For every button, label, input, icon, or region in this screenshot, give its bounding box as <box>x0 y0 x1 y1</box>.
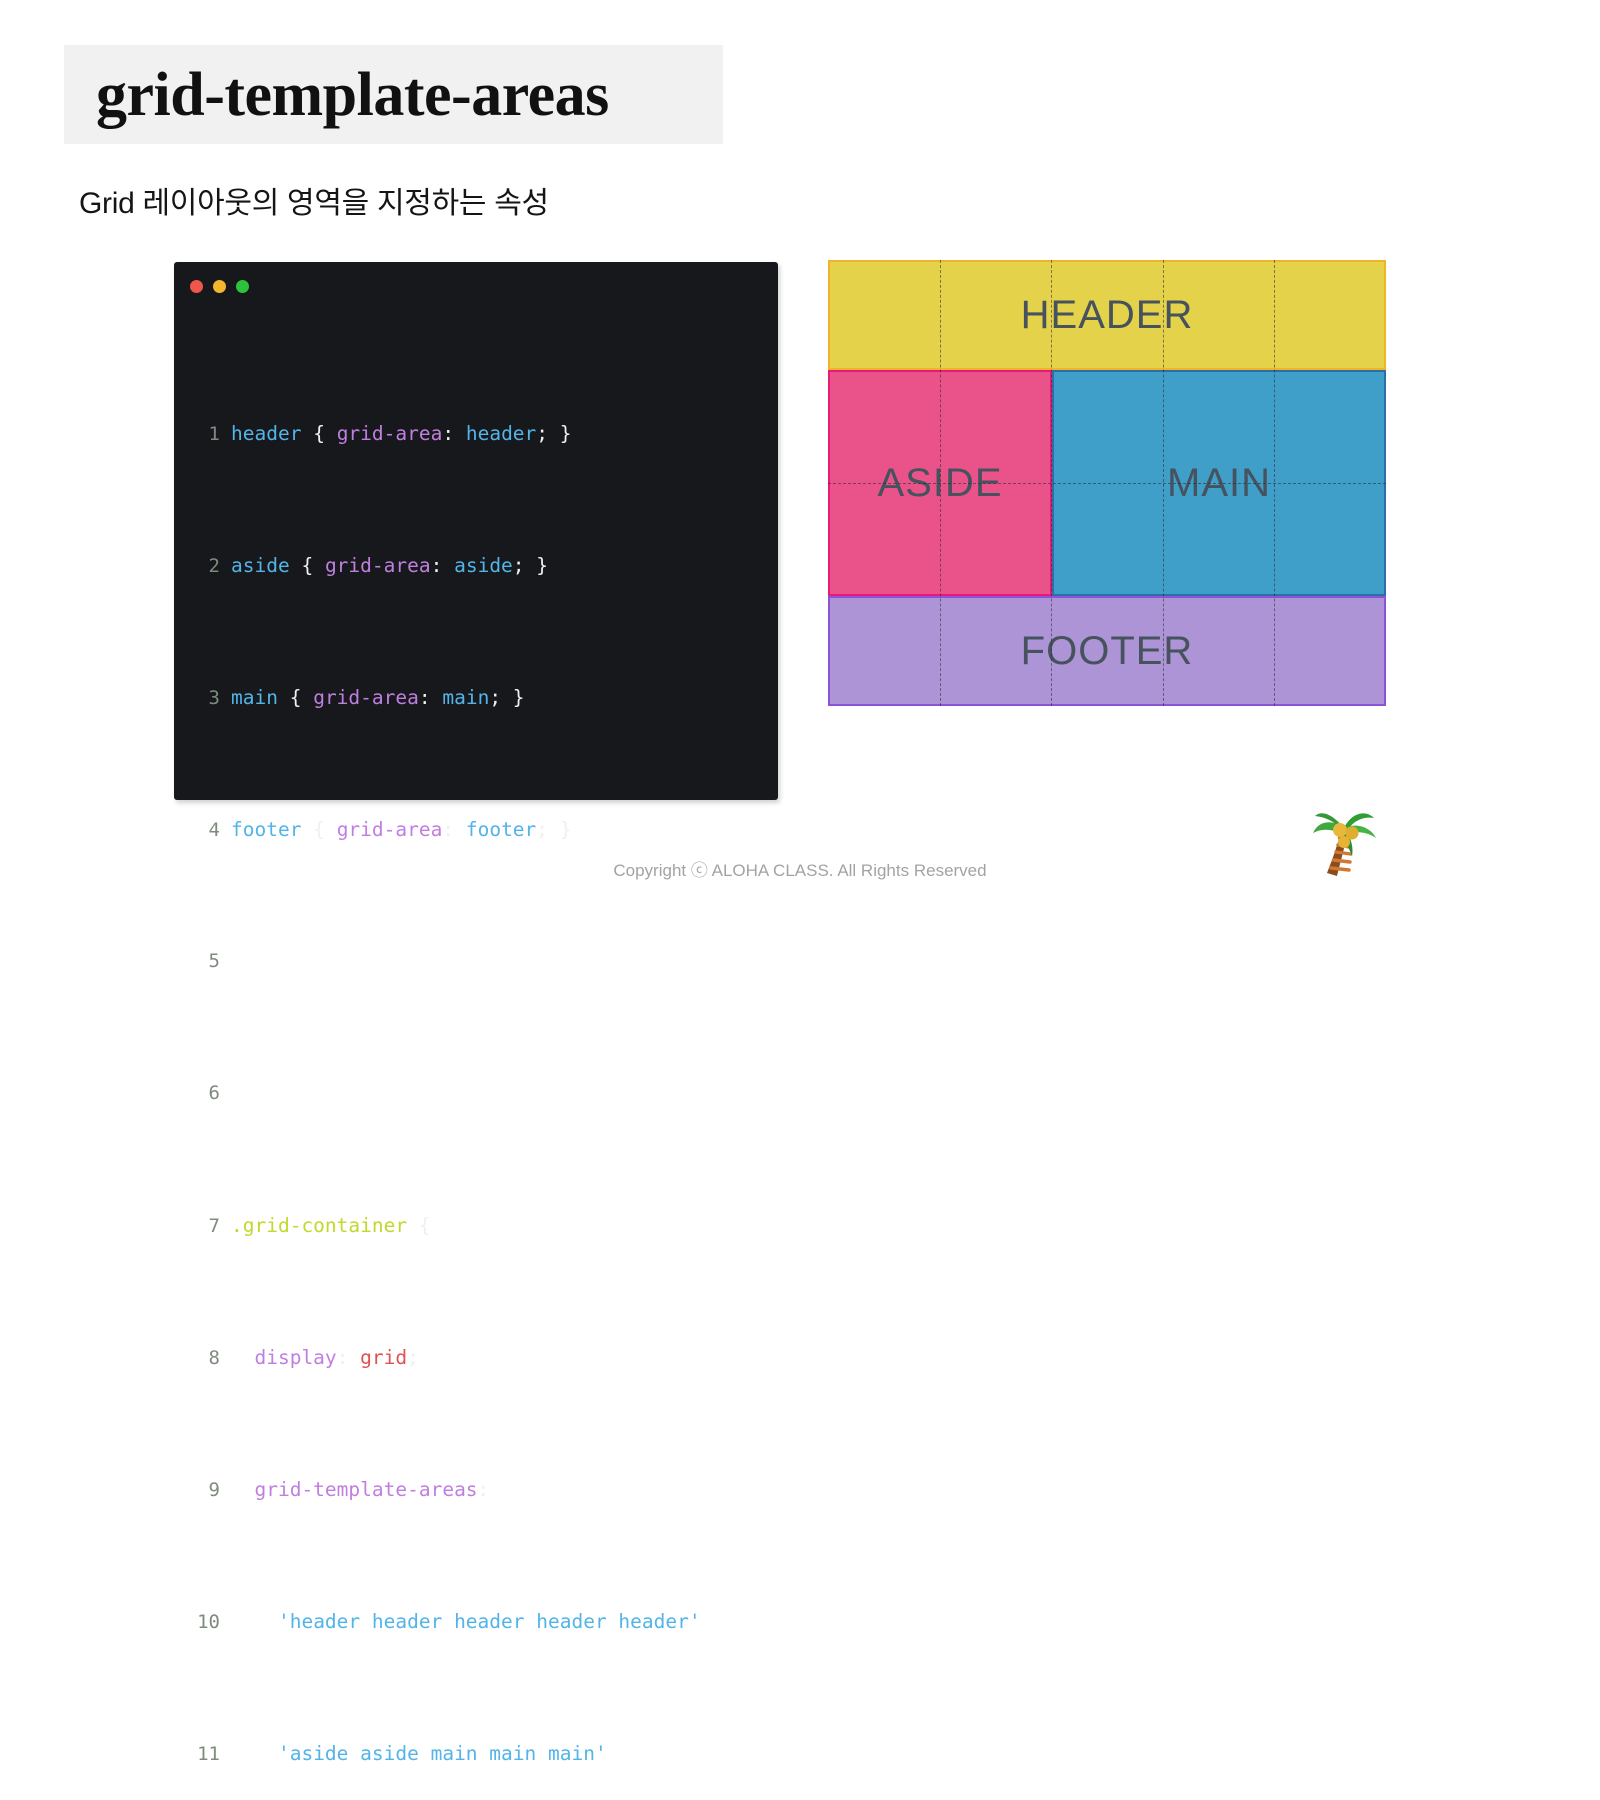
code-punct: { <box>290 554 325 577</box>
code-punct: : <box>442 818 465 841</box>
grid-layout-diagram: HEADER ASIDE MAIN FOOTER <box>828 260 1386 706</box>
css-property: grid-area <box>337 818 443 841</box>
code-punct: : <box>442 422 465 445</box>
code-line: 11 'aside aside main main main' <box>174 1737 778 1770</box>
line-number: 9 <box>174 1474 231 1507</box>
page-title: grid-template-areas <box>96 48 716 142</box>
code-content[interactable]: 1 header { grid-area: header; } 2 aside … <box>174 318 778 1800</box>
code-brace: { <box>419 1214 431 1237</box>
css-value: header <box>466 422 536 445</box>
code-line-text: aside { grid-area: aside; } <box>231 549 548 582</box>
css-selector: footer <box>231 818 301 841</box>
css-property: grid-area <box>337 422 443 445</box>
css-property: display <box>254 1346 336 1369</box>
css-area-string: 'aside aside main main main' <box>278 1742 607 1765</box>
css-selector: header <box>231 422 301 445</box>
code-editor-window: 1 header { grid-area: header; } 2 aside … <box>174 262 778 800</box>
code-indent <box>231 1742 278 1765</box>
grid-area-header: HEADER <box>828 260 1386 370</box>
line-number: 7 <box>174 1210 231 1243</box>
code-line: 3 main { grid-area: main; } <box>174 681 778 714</box>
code-line-text: footer { grid-area: footer; } <box>231 813 572 846</box>
css-value: footer <box>466 818 536 841</box>
css-selector: aside <box>231 554 290 577</box>
code-line-text: grid-template-areas: <box>231 1473 489 1506</box>
code-punct: ; } <box>489 686 524 709</box>
code-line-text: main { grid-area: main; } <box>231 681 525 714</box>
code-punct: { <box>278 686 313 709</box>
line-number: 11 <box>174 1738 231 1771</box>
code-line-text: display: grid; <box>231 1341 419 1374</box>
css-class-selector: .grid-container <box>231 1214 407 1237</box>
code-punct: { <box>301 818 336 841</box>
code-line-text: 'header header header header header' <box>231 1605 701 1638</box>
css-property: grid-template-areas <box>254 1478 477 1501</box>
code-line: 6 <box>174 1077 778 1110</box>
css-keyword: grid <box>360 1346 407 1369</box>
line-number: 8 <box>174 1342 231 1375</box>
code-line-text: 'aside aside main main main' <box>231 1737 607 1770</box>
grid-area-footer-label: FOOTER <box>1021 629 1194 674</box>
close-window-icon[interactable] <box>190 280 203 293</box>
grid-area-main: MAIN <box>1052 370 1386 596</box>
css-area-string: 'header header header header header' <box>278 1610 701 1633</box>
code-punct: ; } <box>536 818 571 841</box>
code-punct: ; <box>407 1346 419 1369</box>
code-punct: : <box>337 1346 360 1369</box>
code-punct: ; } <box>536 422 571 445</box>
code-punct: ; } <box>513 554 548 577</box>
code-line: 5 <box>174 945 778 978</box>
code-indent <box>231 1346 254 1369</box>
line-number: 2 <box>174 550 231 583</box>
css-property: grid-area <box>325 554 431 577</box>
maximize-window-icon[interactable] <box>236 280 249 293</box>
code-line: 9 grid-template-areas: <box>174 1473 778 1506</box>
page-subtitle: Grid 레이아웃의 영역을 지정하는 속성 <box>79 178 549 222</box>
line-number: 3 <box>174 682 231 715</box>
code-punct: { <box>301 422 336 445</box>
code-line: 1 header { grid-area: header; } <box>174 417 778 450</box>
line-number: 10 <box>174 1606 231 1639</box>
code-line-text: header { grid-area: header; } <box>231 417 572 450</box>
code-punct <box>407 1214 419 1237</box>
code-line: 7 .grid-container { <box>174 1209 778 1242</box>
palm-tree-icon <box>1308 800 1380 878</box>
code-punct: : <box>478 1478 490 1501</box>
code-indent <box>231 1610 278 1633</box>
grid-area-aside: ASIDE <box>828 370 1052 596</box>
minimize-window-icon[interactable] <box>213 280 226 293</box>
window-controls <box>190 280 249 293</box>
code-indent <box>231 1478 254 1501</box>
line-number: 6 <box>174 1077 231 1110</box>
line-number: 4 <box>174 814 231 847</box>
code-line: 10 'header header header header header' <box>174 1605 778 1638</box>
line-number: 5 <box>174 945 231 978</box>
grid-area-aside-label: ASIDE <box>877 461 1002 506</box>
code-line: 8 display: grid; <box>174 1341 778 1374</box>
line-number: 1 <box>174 418 231 451</box>
css-selector: main <box>231 686 278 709</box>
code-punct: : <box>419 686 442 709</box>
css-value: main <box>442 686 489 709</box>
grid-area-header-label: HEADER <box>1021 293 1194 338</box>
code-line: 2 aside { grid-area: aside; } <box>174 549 778 582</box>
css-value: aside <box>454 554 513 577</box>
grid-area-main-label: MAIN <box>1167 461 1271 506</box>
css-property: grid-area <box>313 686 419 709</box>
grid-area-footer: FOOTER <box>828 596 1386 706</box>
code-line-text: .grid-container { <box>231 1209 431 1242</box>
code-line: 4 footer { grid-area: footer; } <box>174 813 778 846</box>
code-punct: : <box>431 554 454 577</box>
